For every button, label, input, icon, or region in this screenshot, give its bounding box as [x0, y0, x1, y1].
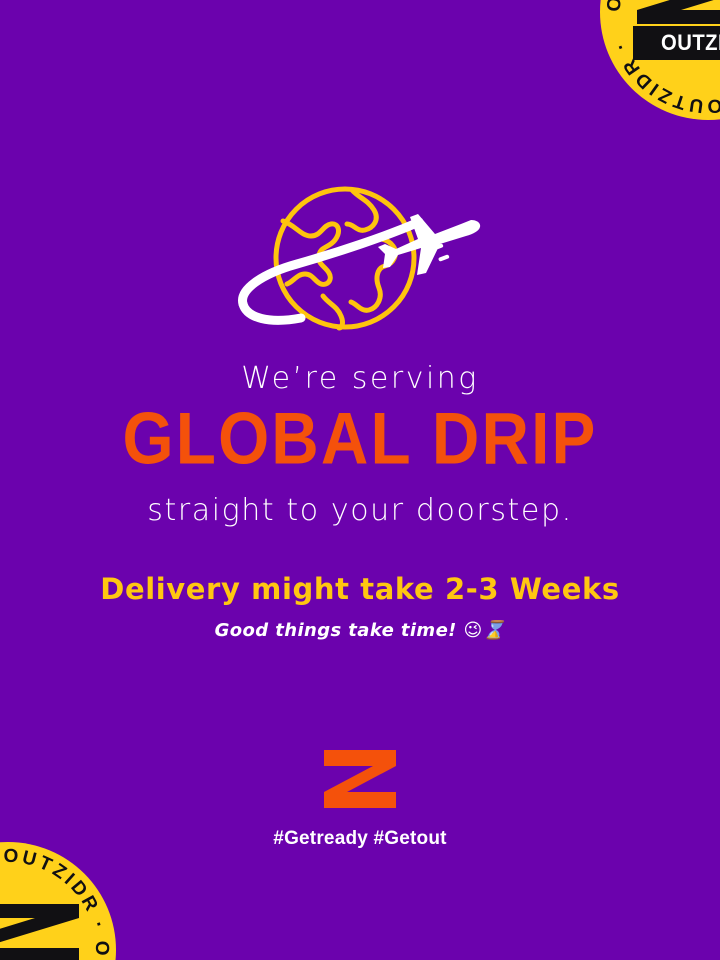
brand-seal-bottom-left: OUTZIDR · OUTZIDR · OUTZIDR · OUTZIDR · … [0, 842, 116, 960]
z-logo-icon [321, 748, 399, 810]
eyebrow-text: We’re serving [0, 362, 720, 397]
delivery-note: Delivery might take 2-3 Weeks [0, 572, 720, 606]
reassurance-text: Good things take time! 😉⌛ [0, 620, 720, 641]
z-logo-icon [0, 902, 83, 960]
globe-plane-artwork [235, 178, 485, 346]
page-title: GLOBAL DRIP [0, 403, 720, 476]
subline-text: straight to your doorstep. [0, 493, 720, 528]
poster-canvas: We’re serving GLOBAL DRIP straight to yo… [0, 0, 720, 960]
seal-core-bl: OUTZIDR [0, 902, 83, 960]
seal-wordmark-band-tr: OUTZIDR [633, 26, 720, 60]
footer-brand-block: #Getready #Getout [0, 748, 720, 850]
seal-wordmark-tr: OUTZIDR [661, 30, 720, 56]
brand-seal-top-right: OUTZIDR · OUTZIDR · OUTZIDR · OUTZIDR · … [600, 0, 720, 120]
z-logo-icon [633, 0, 720, 26]
seal-core-tr: OUTZIDR [633, 0, 720, 60]
headline-block: We’re serving GLOBAL DRIP straight to yo… [0, 362, 720, 641]
